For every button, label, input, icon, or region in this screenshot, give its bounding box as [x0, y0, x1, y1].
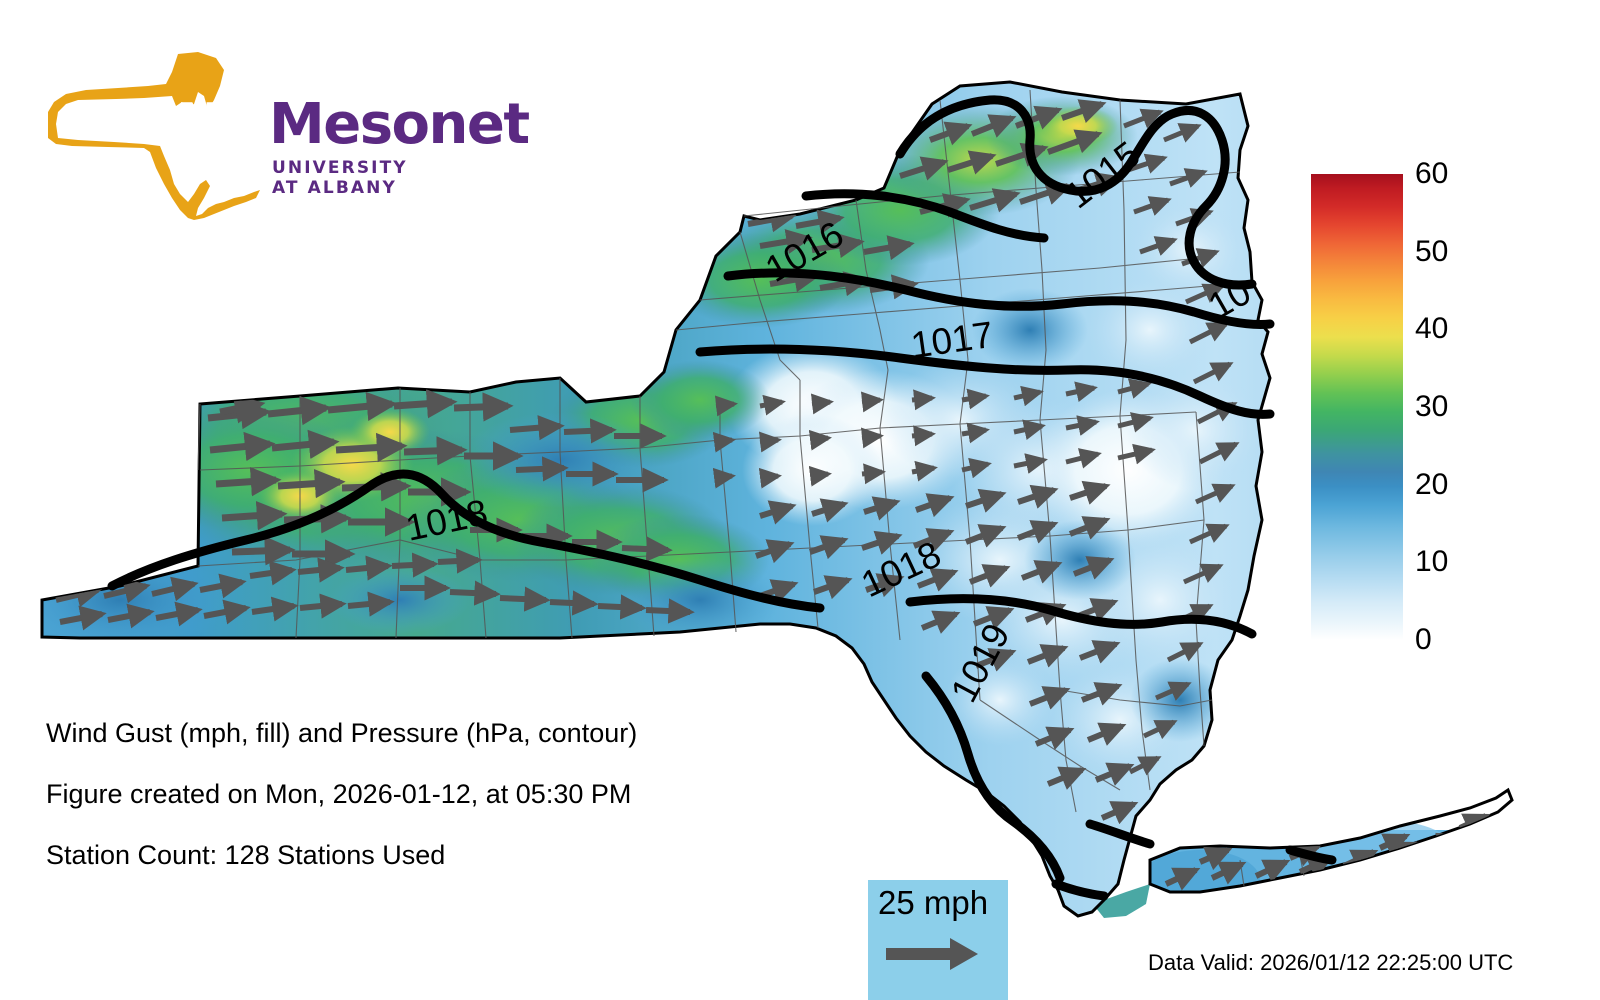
colorbar-tick: 50 [1415, 237, 1448, 267]
weather-map-figure: NYS Mesonet UNIVERSITY AT ALBANY [0, 0, 1600, 1000]
colorbar-tick: 60 [1415, 159, 1448, 189]
colorbar-tick: 10 [1415, 547, 1448, 577]
figure-caption: Wind Gust (mph, fill) and Pressure (hPa,… [46, 718, 826, 901]
colorbar-tick-labels: 6050403020100 [1415, 174, 1481, 640]
colorbar: 6050403020100 [1311, 174, 1481, 644]
colorbar-tick: 40 [1415, 314, 1448, 344]
colorbar-tick: 30 [1415, 392, 1448, 422]
colorbar-tick: 0 [1415, 625, 1432, 655]
caption-created: Figure created on Mon, 2026-01-12, at 05… [46, 779, 826, 810]
data-valid-timestamp: Data Valid: 2026/01/12 22:25:00 UTC [1148, 950, 1513, 976]
arrow-right-icon [884, 932, 994, 976]
wind-vector-key: 25 mph [868, 880, 1008, 1000]
wind-key-label: 25 mph [878, 884, 988, 922]
caption-station-count: Station Count: 128 Stations Used [46, 840, 826, 871]
colorbar-gradient [1311, 174, 1403, 640]
caption-title: Wind Gust (mph, fill) and Pressure (hPa,… [46, 718, 826, 749]
colorbar-tick: 20 [1415, 470, 1448, 500]
